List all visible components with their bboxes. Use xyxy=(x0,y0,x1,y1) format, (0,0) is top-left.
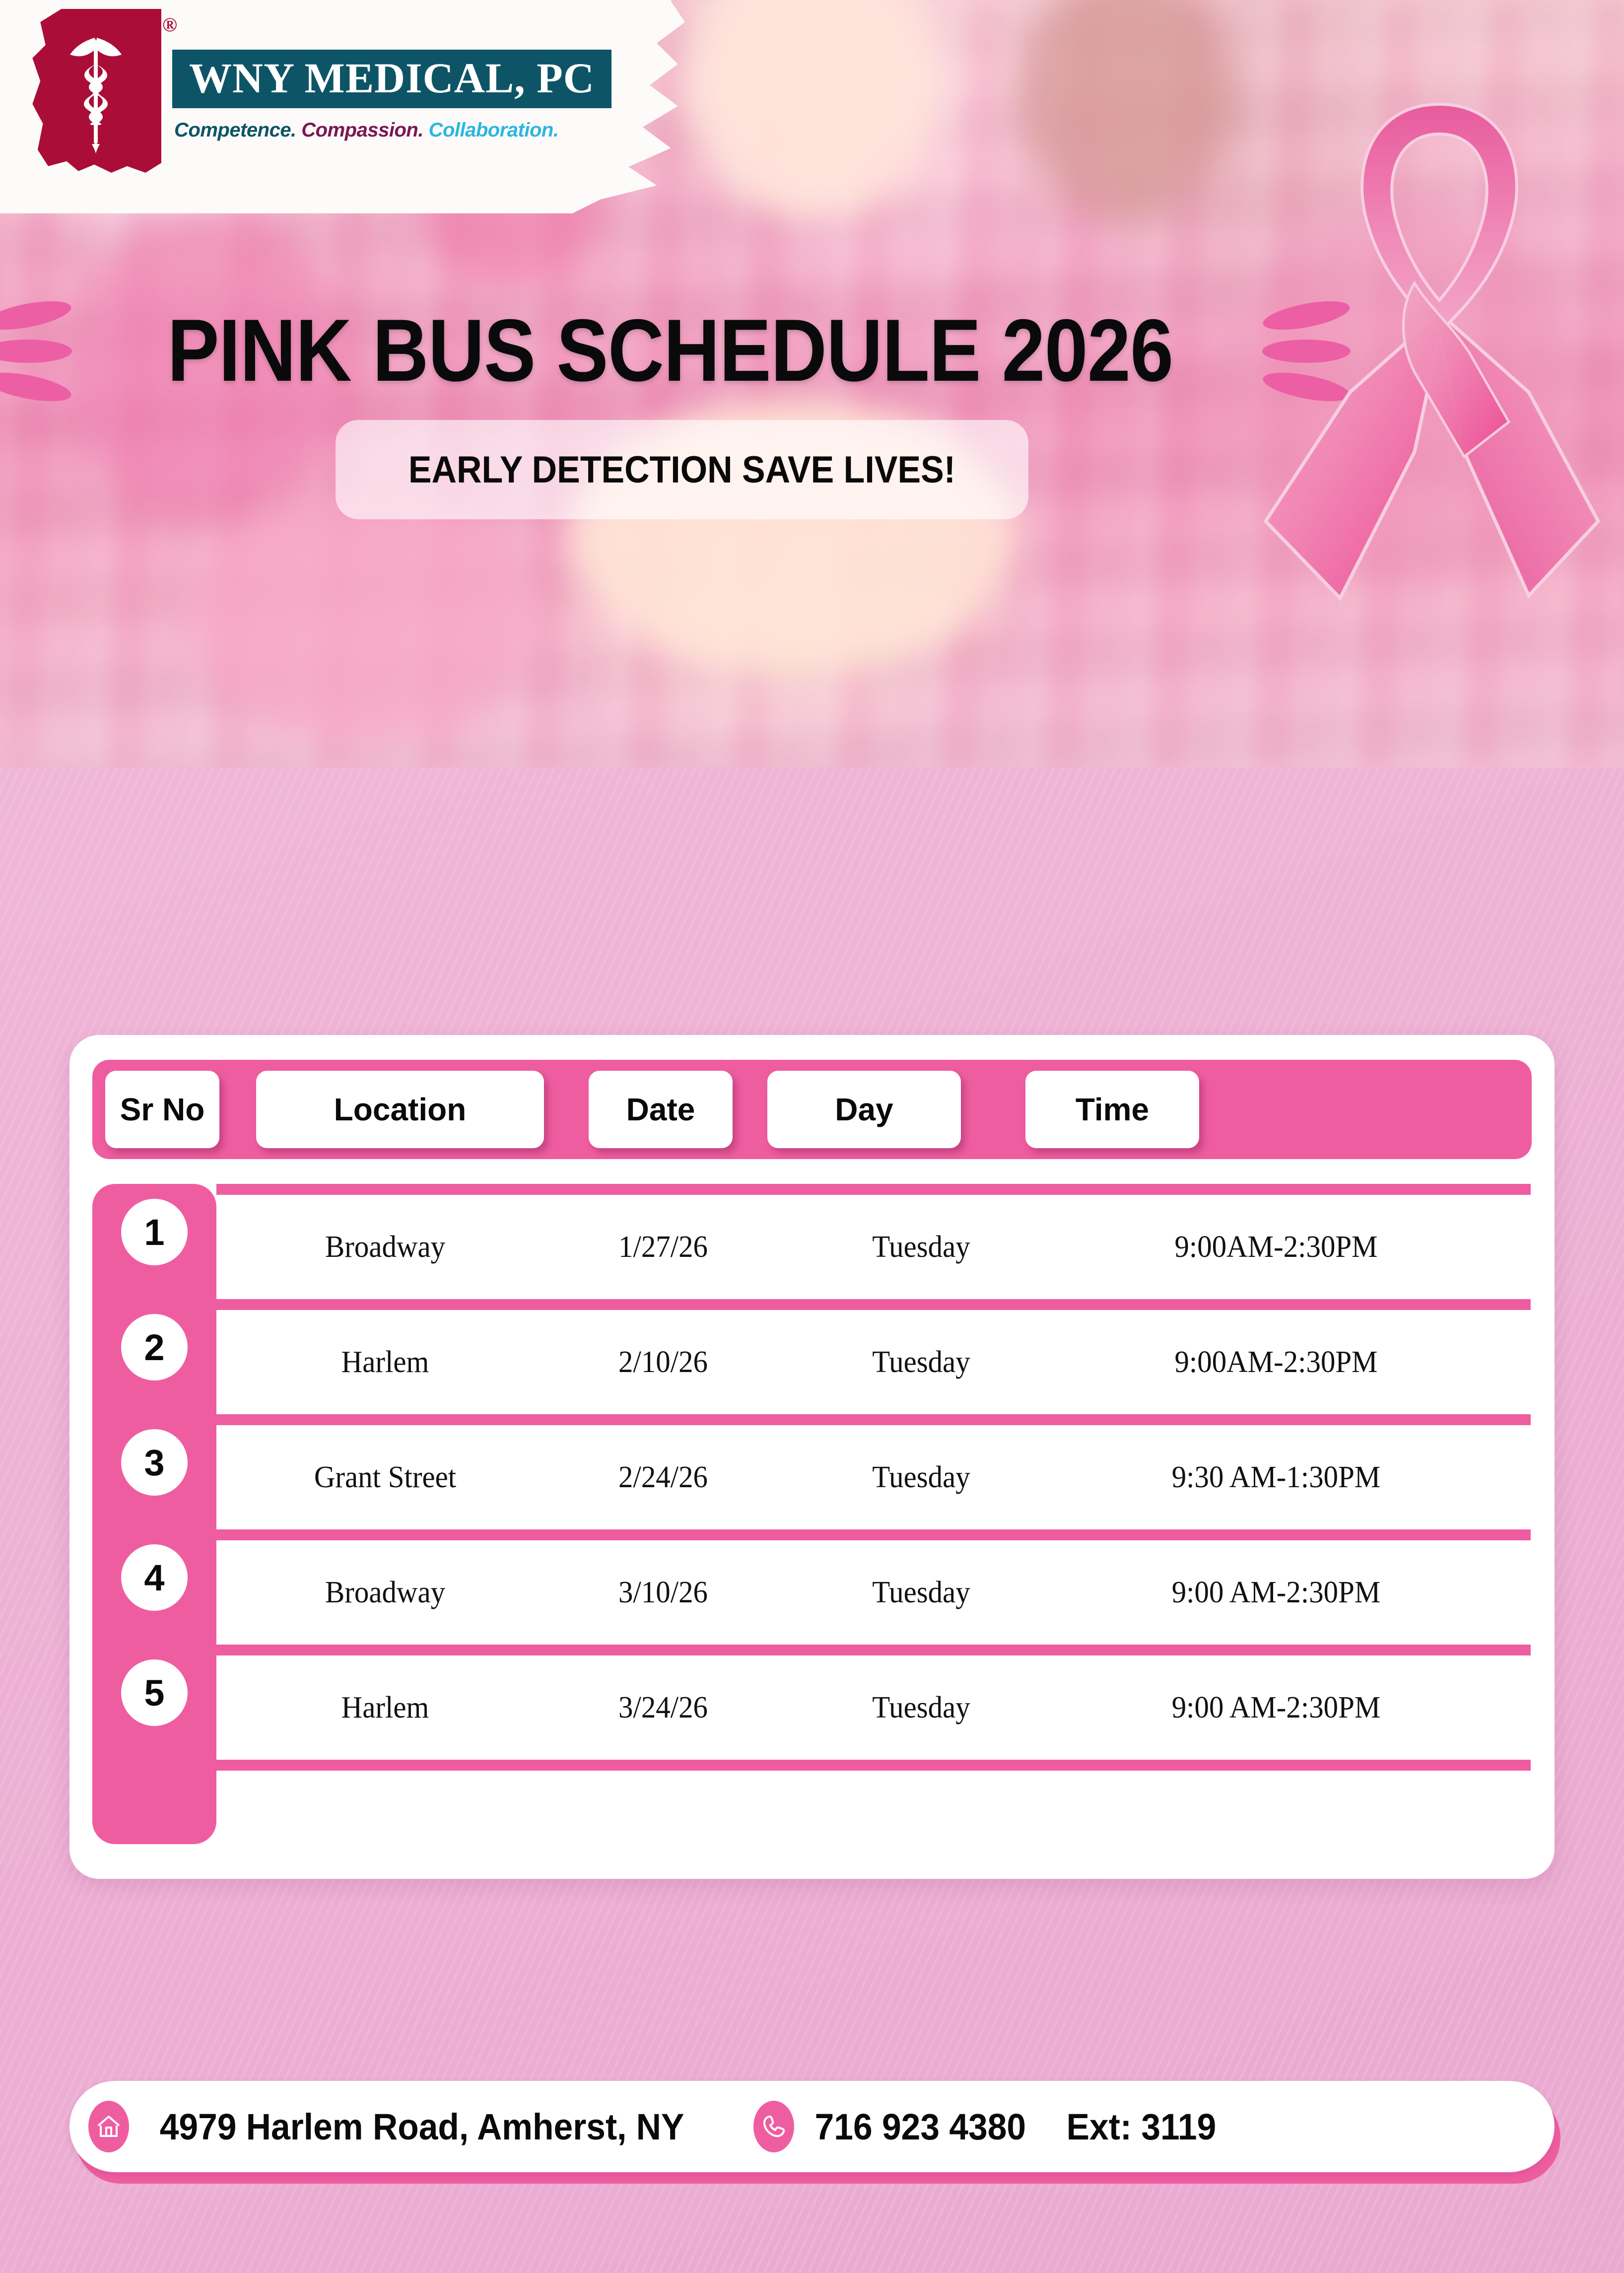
footer-address: 4979 Harlem Road, Amherst, NY xyxy=(160,2106,684,2148)
cell-day: Tuesday xyxy=(780,1690,1063,1725)
sr-no-rail: 1 2 3 4 5 xyxy=(92,1184,216,1844)
cell-time: 9:00AM-2:30PM xyxy=(1081,1230,1472,1265)
brand-tagline: Competence. Compassion. Collaboration. xyxy=(174,119,611,141)
pink-dashes-icon xyxy=(0,301,78,400)
header-label: Sr No xyxy=(120,1091,205,1128)
cell-date: 3/24/26 xyxy=(559,1690,767,1725)
table-header-date: Date xyxy=(589,1071,733,1148)
sr-no-badge: 2 xyxy=(121,1314,188,1380)
cell-day: Tuesday xyxy=(780,1460,1063,1495)
table-row[interactable]: Broadway 1/27/26 Tuesday 9:00AM-2:30PM xyxy=(216,1195,1531,1299)
row-divider xyxy=(216,1760,1531,1771)
cell-date: 2/10/26 xyxy=(559,1345,767,1380)
table-row[interactable]: Harlem 2/10/26 Tuesday 9:00AM-2:30PM xyxy=(216,1310,1531,1414)
brand-logo: ® WNY MEDICAL, PC Competence xyxy=(30,9,611,173)
poster-subtitle: EARLY DETECTION SAVE LIVES! xyxy=(408,448,955,491)
cell-time: 9:00 AM-2:30PM xyxy=(1081,1575,1472,1610)
cell-day: Tuesday xyxy=(780,1345,1063,1380)
sr-no-value: 4 xyxy=(144,1557,164,1599)
table-row[interactable]: Harlem 3/24/26 Tuesday 9:00 AM-2:30PM xyxy=(216,1655,1531,1760)
cell-date: 3/10/26 xyxy=(559,1575,767,1610)
table-row[interactable]: Grant Street 2/24/26 Tuesday 9:30 AM-1:3… xyxy=(216,1425,1531,1529)
caduceus-icon: ® xyxy=(30,9,161,173)
footer-phone: 716 923 4380 xyxy=(815,2106,1026,2148)
cell-day: Tuesday xyxy=(780,1230,1063,1265)
cell-time: 9:00 AM-2:30PM xyxy=(1081,1690,1472,1725)
tagline-competence: Competence. xyxy=(174,119,296,141)
sr-no-value: 2 xyxy=(144,1326,164,1369)
poster-canvas: ® WNY MEDICAL, PC Competence xyxy=(0,0,1624,2273)
page-title: PINK BUS SCHEDULE 2026 xyxy=(167,306,1173,395)
header-label: Location xyxy=(334,1091,467,1128)
row-divider xyxy=(216,1184,1531,1195)
breast-cancer-awareness-ribbon-icon xyxy=(1251,74,1624,645)
sr-no-badge: 5 xyxy=(121,1659,188,1726)
footer-contact-bar: 4979 Harlem Road, Amherst, NY 716 923 43… xyxy=(69,2081,1555,2172)
caduceus-glyph xyxy=(66,35,126,154)
poster-title-row: PINK BUS SCHEDULE 2026 xyxy=(0,296,1340,405)
table-header-sr-no: Sr No xyxy=(105,1071,219,1148)
cell-location: Harlem xyxy=(225,1690,545,1725)
row-divider xyxy=(216,1645,1531,1655)
table-body: Broadway 1/27/26 Tuesday 9:00AM-2:30PM H… xyxy=(216,1184,1531,1844)
brand-name: WNY MEDICAL, PC xyxy=(172,50,611,108)
header-label: Date xyxy=(626,1091,695,1128)
subtitle-banner: EARLY DETECTION SAVE LIVES! xyxy=(336,420,1028,519)
hero-figure xyxy=(189,486,536,745)
footer-extension: Ext: 3119 xyxy=(1066,2106,1216,2148)
brand-name-block: WNY MEDICAL, PC Competence. Compassion. … xyxy=(172,50,611,141)
cell-location: Grant Street xyxy=(225,1460,545,1495)
table-header-location: Location xyxy=(256,1071,544,1148)
table-row[interactable]: Broadway 3/10/26 Tuesday 9:00 AM-2:30PM xyxy=(216,1540,1531,1645)
registered-mark: ® xyxy=(162,13,177,36)
tagline-collaboration: Collaboration. xyxy=(429,119,559,141)
home-icon xyxy=(88,2101,129,2152)
sr-no-value: 5 xyxy=(144,1672,164,1714)
cell-location: Broadway xyxy=(225,1575,545,1610)
cell-date: 1/27/26 xyxy=(559,1230,767,1265)
sr-no-value: 1 xyxy=(144,1211,164,1253)
cell-location: Harlem xyxy=(225,1345,545,1380)
row-divider xyxy=(216,1529,1531,1540)
tagline-compassion: Compassion. xyxy=(301,119,423,141)
table-header-day: Day xyxy=(767,1071,961,1148)
cell-day: Tuesday xyxy=(780,1575,1063,1610)
header-label: Day xyxy=(835,1091,893,1128)
cell-location: Broadway xyxy=(225,1230,545,1265)
phone-icon xyxy=(753,2101,794,2152)
row-divider xyxy=(216,1414,1531,1425)
cell-time: 9:00AM-2:30PM xyxy=(1081,1345,1472,1380)
sr-no-value: 3 xyxy=(144,1442,164,1484)
header-label: Time xyxy=(1076,1091,1149,1128)
cell-date: 2/24/26 xyxy=(559,1460,767,1495)
table-header-row: Sr No Location Date Day Time xyxy=(92,1060,1532,1159)
sr-no-badge: 1 xyxy=(121,1199,188,1265)
table-header-time: Time xyxy=(1025,1071,1199,1148)
sr-no-badge: 4 xyxy=(121,1544,188,1611)
row-divider xyxy=(216,1299,1531,1310)
hero-banner: ® WNY MEDICAL, PC Competence xyxy=(0,0,1624,768)
cell-time: 9:30 AM-1:30PM xyxy=(1081,1460,1472,1495)
schedule-card: Sr No Location Date Day Time 1 2 3 4 5 xyxy=(69,1035,1555,1879)
sr-no-badge: 3 xyxy=(121,1429,188,1496)
